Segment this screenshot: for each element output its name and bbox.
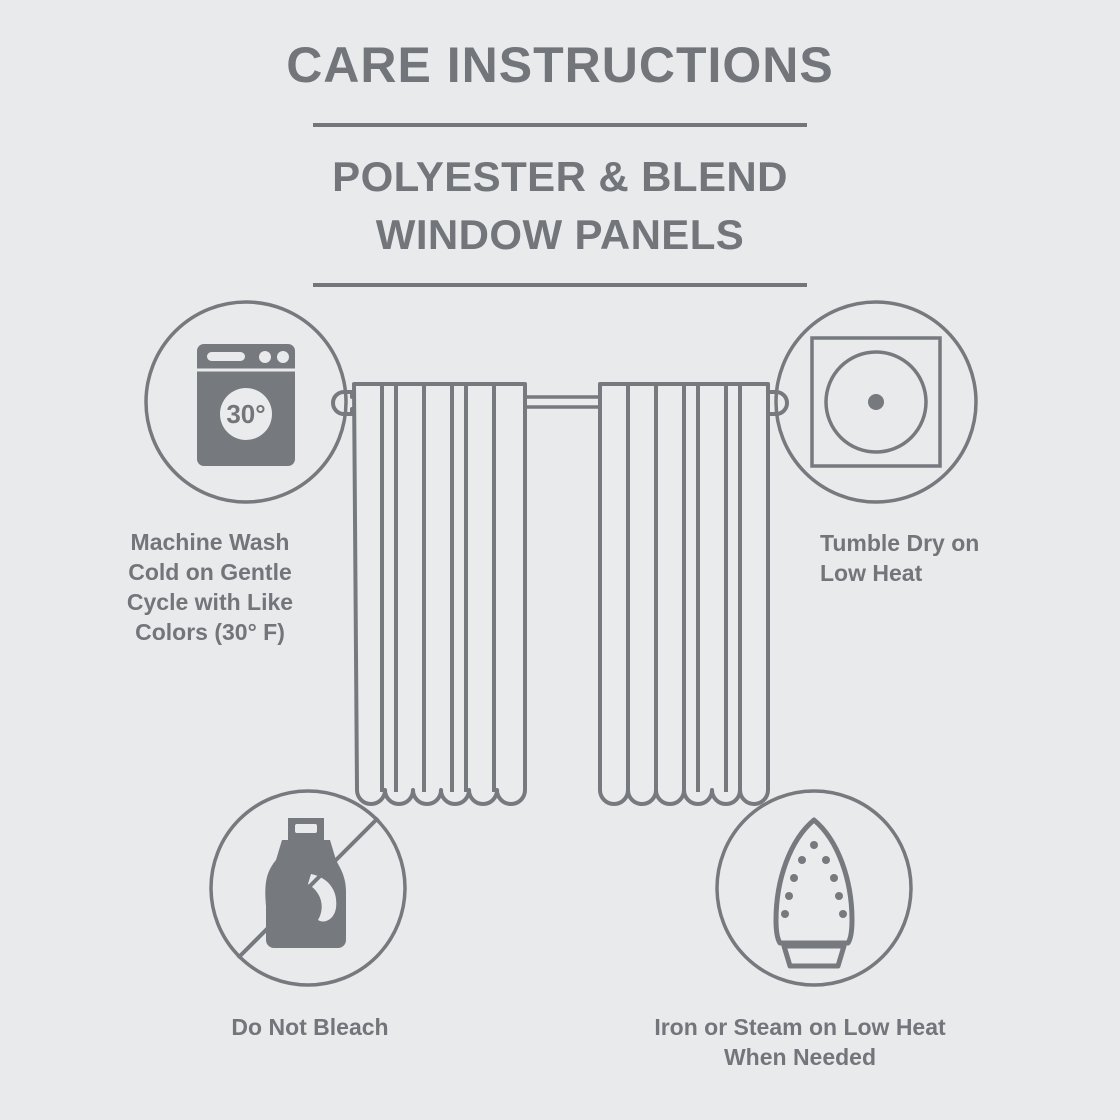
curtain-panel-right [600,384,768,804]
badge-iron [712,788,917,998]
badge-machine-wash: 30° [143,298,353,515]
page-subtitle: POLYESTER & BLEND WINDOW PANELS [0,148,1120,264]
care-instructions-infographic: CARE INSTRUCTIONS POLYESTER & BLEND WIND… [0,0,1120,1120]
caption-machine-wash: Machine Wash Cold on Gentle Cycle with L… [60,527,360,647]
tumble-dry-low-icon [812,338,940,466]
washing-machine-icon: 30° [197,344,295,466]
subtitle-line-1: POLYESTER & BLEND [0,148,1120,206]
curtain-rod [520,397,604,407]
badge-no-bleach [208,788,413,998]
wash-temperature-label: 30° [226,399,265,429]
caption-iron: Iron or Steam on Low Heat When Needed [610,1012,990,1072]
caption-tumble-dry: Tumble Dry on Low Heat [820,528,1120,588]
badge-tumble-dry [770,298,982,515]
divider-top [313,123,807,127]
iron-soleplate-icon [776,820,852,966]
page-title: CARE INSTRUCTIONS [0,36,1120,94]
caption-no-bleach: Do Not Bleach [160,1012,460,1042]
subtitle-line-2: WINDOW PANELS [0,206,1120,264]
curtain-panel-left [354,384,525,804]
bleach-bottle-icon [265,818,346,948]
divider-bottom [313,283,807,287]
